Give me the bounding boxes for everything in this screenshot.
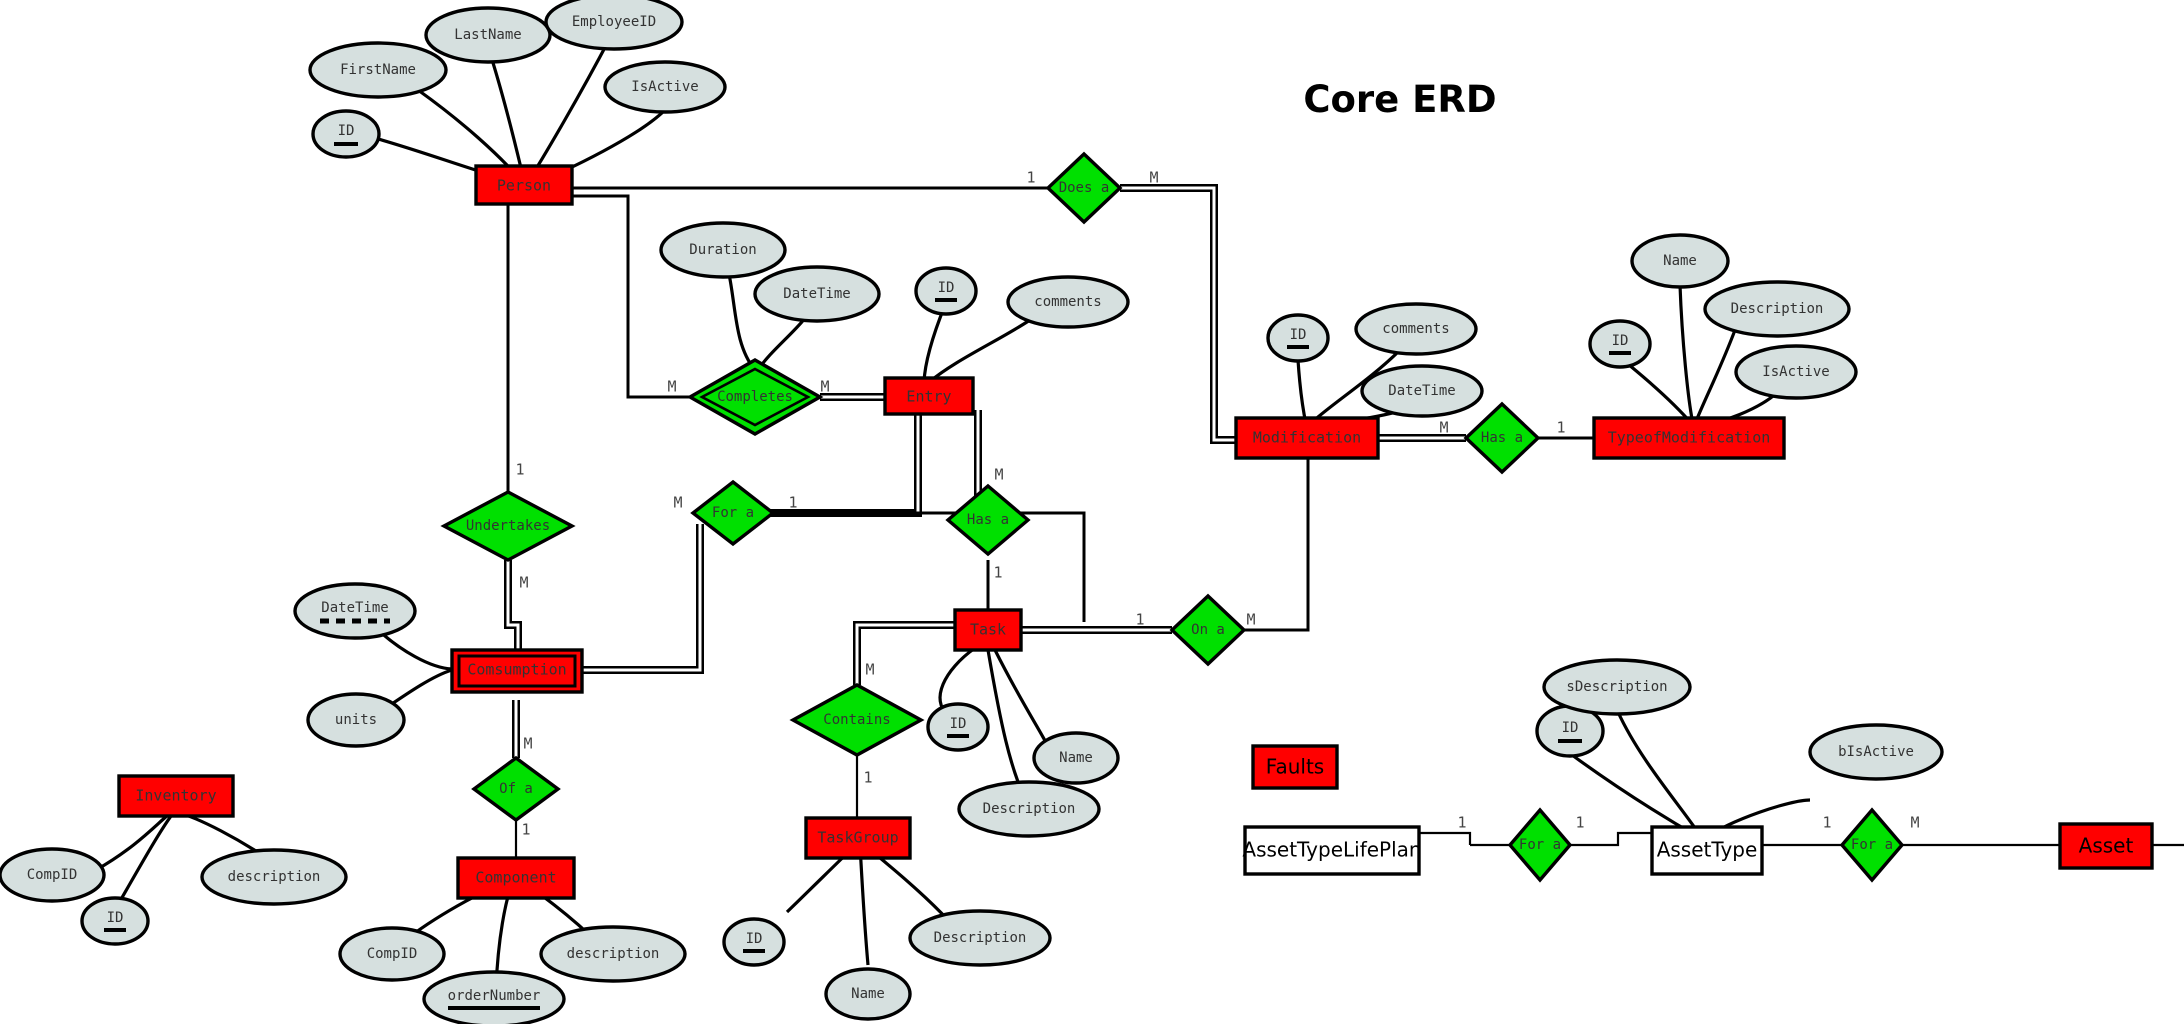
- attribute-assettype-sdescription[interactable]: sDescription: [1544, 660, 1690, 714]
- relationship-label: For a: [712, 505, 754, 521]
- entity-person-label: Person: [497, 177, 551, 195]
- cardinality-person-undertakes: 1: [515, 461, 524, 479]
- cardinality-completes-entry: M: [820, 378, 829, 396]
- attribute-label: Name: [851, 986, 885, 1002]
- cardinality-has-a-typeofmod: 1: [1556, 419, 1565, 437]
- cardinality-task-contains: M: [865, 661, 874, 679]
- attribute-label: bIsActive: [1838, 744, 1914, 760]
- relationship-label: Has a: [967, 512, 1009, 528]
- cardinality-undertakes-comsumption: M: [519, 574, 528, 592]
- relationship-completes[interactable]: Completes: [690, 360, 820, 434]
- relationship-has-a-modification[interactable]: Has a: [1466, 404, 1538, 472]
- entity-task[interactable]: Task: [955, 610, 1021, 650]
- attribute-label: ID: [950, 716, 967, 732]
- attribute-label: CompID: [27, 867, 78, 883]
- attribute-label: ID: [338, 123, 355, 139]
- attribute-inventory-id[interactable]: ID: [82, 898, 148, 944]
- cardinality-for-a-task: 1: [788, 494, 797, 512]
- attribute-task-name[interactable]: Name: [1034, 733, 1118, 783]
- attribute-inventory-compid[interactable]: CompID: [0, 849, 104, 901]
- cardinality-on-a-modification: M: [1246, 611, 1255, 629]
- entity-comsumption-label: Comsumption: [467, 661, 566, 679]
- cardinality-does-a-modification: M: [1149, 169, 1158, 187]
- cardinality-for-a-asset: M: [1910, 814, 1919, 832]
- attribute-modification-id[interactable]: ID: [1268, 315, 1328, 361]
- entity-entry[interactable]: Entry: [885, 378, 973, 414]
- attribute-label: ID: [107, 910, 124, 926]
- attribute-taskgroup-description[interactable]: Description: [910, 911, 1050, 965]
- attribute-taskgroup-name[interactable]: Name: [826, 969, 910, 1019]
- entity-entry-label: Entry: [906, 388, 951, 406]
- relationship-label: Has a: [1481, 430, 1523, 446]
- attribute-label: Name: [1059, 750, 1093, 766]
- relationship-label: For a: [1519, 837, 1561, 853]
- attribute-assettype-bisactive[interactable]: bIsActive: [1810, 725, 1942, 779]
- relationship-label: Contains: [823, 712, 890, 728]
- entity-taskgroup-label: TaskGroup: [817, 829, 898, 847]
- cardinality-comsumption-of-a: M: [523, 735, 532, 753]
- attribute-comsumption-datetime[interactable]: DateTime: [295, 584, 415, 638]
- attribute-label: sDescription: [1566, 679, 1667, 695]
- attribute-person-lastname[interactable]: LastName: [426, 8, 550, 62]
- cardinality-has-a-task-task: 1: [993, 564, 1002, 582]
- attribute-label: DateTime: [321, 600, 388, 616]
- cardinality-person-does-a: 1: [1026, 169, 1035, 187]
- attribute-label: CompID: [367, 946, 418, 962]
- cardinality-modification-has-a: M: [1439, 419, 1448, 437]
- attribute-label: ID: [1290, 327, 1307, 343]
- relationship-for-a-asset[interactable]: For a: [1842, 810, 1902, 880]
- cardinality-comsumption-for-a: M: [673, 494, 682, 512]
- attribute-completes-duration[interactable]: Duration: [661, 223, 785, 277]
- attribute-person-id[interactable]: ID: [313, 111, 379, 157]
- entity-typeofmodification-label: TypeofModification: [1608, 429, 1771, 447]
- attribute-typeofmodification-isactive[interactable]: IsActive: [1736, 346, 1856, 398]
- attribute-label: Name: [1663, 253, 1697, 269]
- entity-faults[interactable]: Faults: [1253, 746, 1337, 788]
- entity-inventory-label: Inventory: [135, 787, 216, 805]
- attribute-component-description[interactable]: description: [541, 927, 685, 981]
- relationship-of-a[interactable]: Of a: [474, 758, 558, 820]
- attribute-label: description: [567, 946, 660, 962]
- attribute-typeofmodification-id[interactable]: ID: [1590, 321, 1650, 367]
- entity-assettypelifeplan[interactable]: AssetTypeLifePlan: [1242, 827, 1421, 874]
- attribute-label: Description: [1731, 301, 1824, 317]
- attribute-comsumption-units[interactable]: units: [308, 694, 404, 746]
- attribute-entry-id[interactable]: ID: [916, 268, 976, 314]
- attribute-entry-comments[interactable]: comments: [1008, 277, 1128, 327]
- attribute-component-compid[interactable]: CompID: [340, 928, 444, 980]
- entity-comsumption[interactable]: Comsumption: [452, 650, 582, 692]
- attribute-label: FirstName: [340, 62, 416, 78]
- cardinality-task-on-a: 1: [1135, 611, 1144, 629]
- entity-component-label: Component: [475, 869, 556, 887]
- entity-taskgroup[interactable]: TaskGroup: [806, 818, 910, 858]
- relationship-label: For a: [1851, 837, 1893, 853]
- relationship-for-a-entry[interactable]: For a: [693, 482, 773, 544]
- attribute-label: Description: [934, 930, 1027, 946]
- entity-assettypelifeplan-label: AssetTypeLifePlan: [1242, 838, 1421, 862]
- relationship-on-a[interactable]: On a: [1172, 596, 1244, 664]
- attribute-typeofmodification-description[interactable]: Description: [1705, 282, 1849, 336]
- entity-task-label: Task: [970, 621, 1006, 639]
- attribute-label: IsActive: [1762, 364, 1829, 380]
- attribute-label: DateTime: [1388, 383, 1455, 399]
- cardinality-person-completes: M: [667, 378, 676, 396]
- attribute-modification-datetime[interactable]: DateTime: [1362, 366, 1482, 416]
- entity-component[interactable]: Component: [458, 858, 574, 898]
- entity-assettype-label: AssetType: [1657, 838, 1758, 862]
- relationship-contains[interactable]: Contains: [793, 685, 921, 755]
- relationship-label: Undertakes: [466, 518, 550, 534]
- attribute-person-isactive[interactable]: IsActive: [605, 62, 725, 112]
- relationship-has-a-task[interactable]: Has a: [948, 486, 1028, 554]
- relationship-label: Completes: [717, 389, 793, 405]
- attribute-label: DateTime: [783, 286, 850, 302]
- attribute-label: units: [335, 712, 377, 728]
- relationship-undertakes[interactable]: Undertakes: [444, 492, 572, 560]
- attribute-completes-datetime[interactable]: DateTime: [755, 267, 879, 321]
- relationship-label: Of a: [499, 781, 533, 797]
- attribute-label: description: [228, 869, 321, 885]
- entity-assettype[interactable]: AssetType: [1652, 827, 1762, 874]
- attribute-label: IsActive: [631, 79, 698, 95]
- cardinality-entry-has-a-task: M: [994, 466, 1003, 484]
- entity-faults-label: Faults: [1266, 755, 1324, 779]
- attribute-person-firstname[interactable]: FirstName: [310, 43, 446, 97]
- attribute-taskgroup-id[interactable]: ID: [724, 919, 784, 965]
- attribute-label: comments: [1034, 294, 1101, 310]
- attribute-label: ID: [746, 931, 763, 947]
- attribute-person-employeeid[interactable]: EmployeeID: [546, 0, 682, 49]
- cardinality-of-a-component: 1: [521, 821, 530, 839]
- cardinality-assettype-for-a: 1: [1822, 814, 1831, 832]
- attribute-label: EmployeeID: [572, 14, 656, 30]
- attribute-label: ID: [1612, 333, 1629, 349]
- attribute-task-id[interactable]: ID: [928, 704, 988, 750]
- cardinality-for-a-assettype: 1: [1575, 814, 1584, 832]
- entity-modification-label: Modification: [1253, 429, 1361, 447]
- entity-inventory[interactable]: Inventory: [119, 776, 233, 816]
- entity-asset[interactable]: Asset: [2060, 824, 2152, 868]
- entity-person[interactable]: Person: [476, 166, 572, 204]
- attribute-component-ordernumber[interactable]: orderNumber: [424, 972, 564, 1024]
- attribute-label: comments: [1382, 321, 1449, 337]
- attribute-label: Description: [983, 801, 1076, 817]
- entity-asset-label: Asset: [2079, 834, 2134, 858]
- attribute-label: ID: [938, 280, 955, 296]
- attribute-modification-comments[interactable]: comments: [1356, 304, 1476, 354]
- erd-svg: Person ID FirstName LastName EmployeeID …: [0, 0, 2184, 1024]
- cardinality-atlp-for-a: 1: [1457, 814, 1466, 832]
- entity-modification[interactable]: Modification: [1236, 418, 1378, 458]
- erd-canvas: Core ERD: [0, 0, 2184, 1024]
- attribute-label: LastName: [454, 27, 521, 43]
- attribute-typeofmodification-name[interactable]: Name: [1632, 235, 1728, 287]
- entity-typeofmodification[interactable]: TypeofModification: [1594, 418, 1784, 458]
- attribute-label: ID: [1562, 720, 1579, 736]
- relationship-label: Does a: [1059, 180, 1110, 196]
- relationship-label: On a: [1191, 622, 1225, 638]
- relationship-does-a[interactable]: Does a: [1048, 154, 1120, 222]
- attribute-inventory-description[interactable]: description: [202, 850, 346, 904]
- attribute-label: Duration: [689, 242, 756, 258]
- cardinality-contains-taskgroup: 1: [863, 769, 872, 787]
- attribute-label: orderNumber: [448, 988, 541, 1004]
- attribute-task-description[interactable]: Description: [959, 782, 1099, 836]
- relationship-for-a-assettypelifeplan[interactable]: For a: [1510, 810, 1570, 880]
